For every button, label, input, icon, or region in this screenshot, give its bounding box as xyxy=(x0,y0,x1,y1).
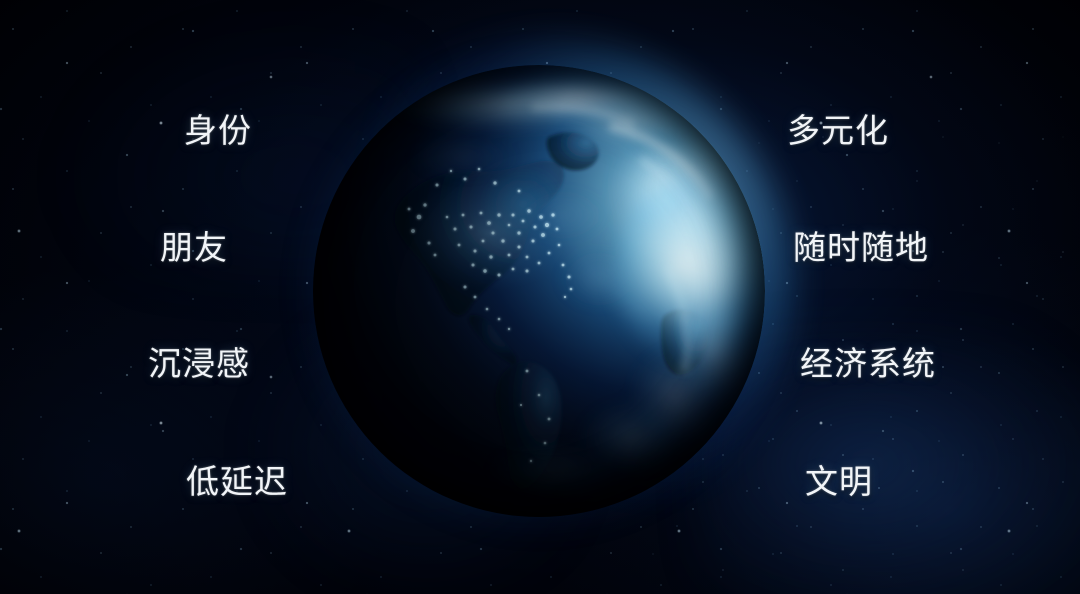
keyword-identity: 身份 xyxy=(184,114,252,147)
earth-globe xyxy=(313,65,765,517)
keyword-immersion: 沉浸感 xyxy=(148,347,250,380)
globe-sphere xyxy=(313,65,765,517)
slide-canvas: 身份 朋友 沉浸感 低延迟 多元化 随时随地 经济系统 文明 xyxy=(0,0,1080,594)
keyword-civilization: 文明 xyxy=(805,465,873,498)
keyword-economy: 经济系统 xyxy=(800,347,936,380)
keyword-friends: 朋友 xyxy=(160,231,228,264)
keyword-anytime: 随时随地 xyxy=(793,231,929,264)
keyword-diversity: 多元化 xyxy=(787,114,889,147)
keyword-low-latency: 低延迟 xyxy=(186,465,288,498)
globe-limb-glow-left xyxy=(313,65,765,517)
